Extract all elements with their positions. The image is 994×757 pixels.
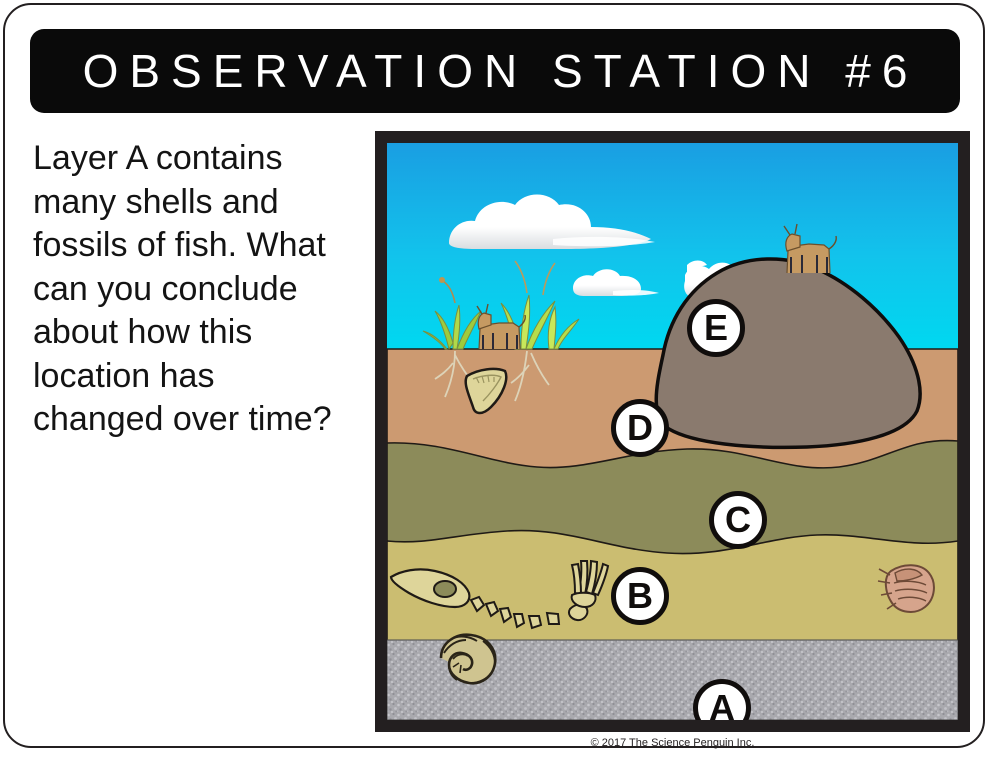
copyright-credit: © 2017 The Science Penguin Inc. [375, 737, 970, 749]
title-bar: OBSERVATION STATION #6 [30, 29, 960, 113]
cross-section-svg [387, 143, 958, 720]
layer-label-c: C [709, 491, 767, 549]
layer-label-e: E [687, 299, 745, 357]
observation-station-card: OBSERVATION STATION #6 Layer A contains … [3, 3, 985, 748]
page-title: OBSERVATION STATION #6 [72, 44, 919, 98]
layer-label-b: B [611, 567, 669, 625]
layer-label-d: D [611, 399, 669, 457]
illustration-canvas: E D C B A [387, 143, 958, 720]
question-text: Layer A contains many shells and fossils… [33, 137, 353, 442]
illustration-frame: E D C B A [375, 131, 970, 732]
